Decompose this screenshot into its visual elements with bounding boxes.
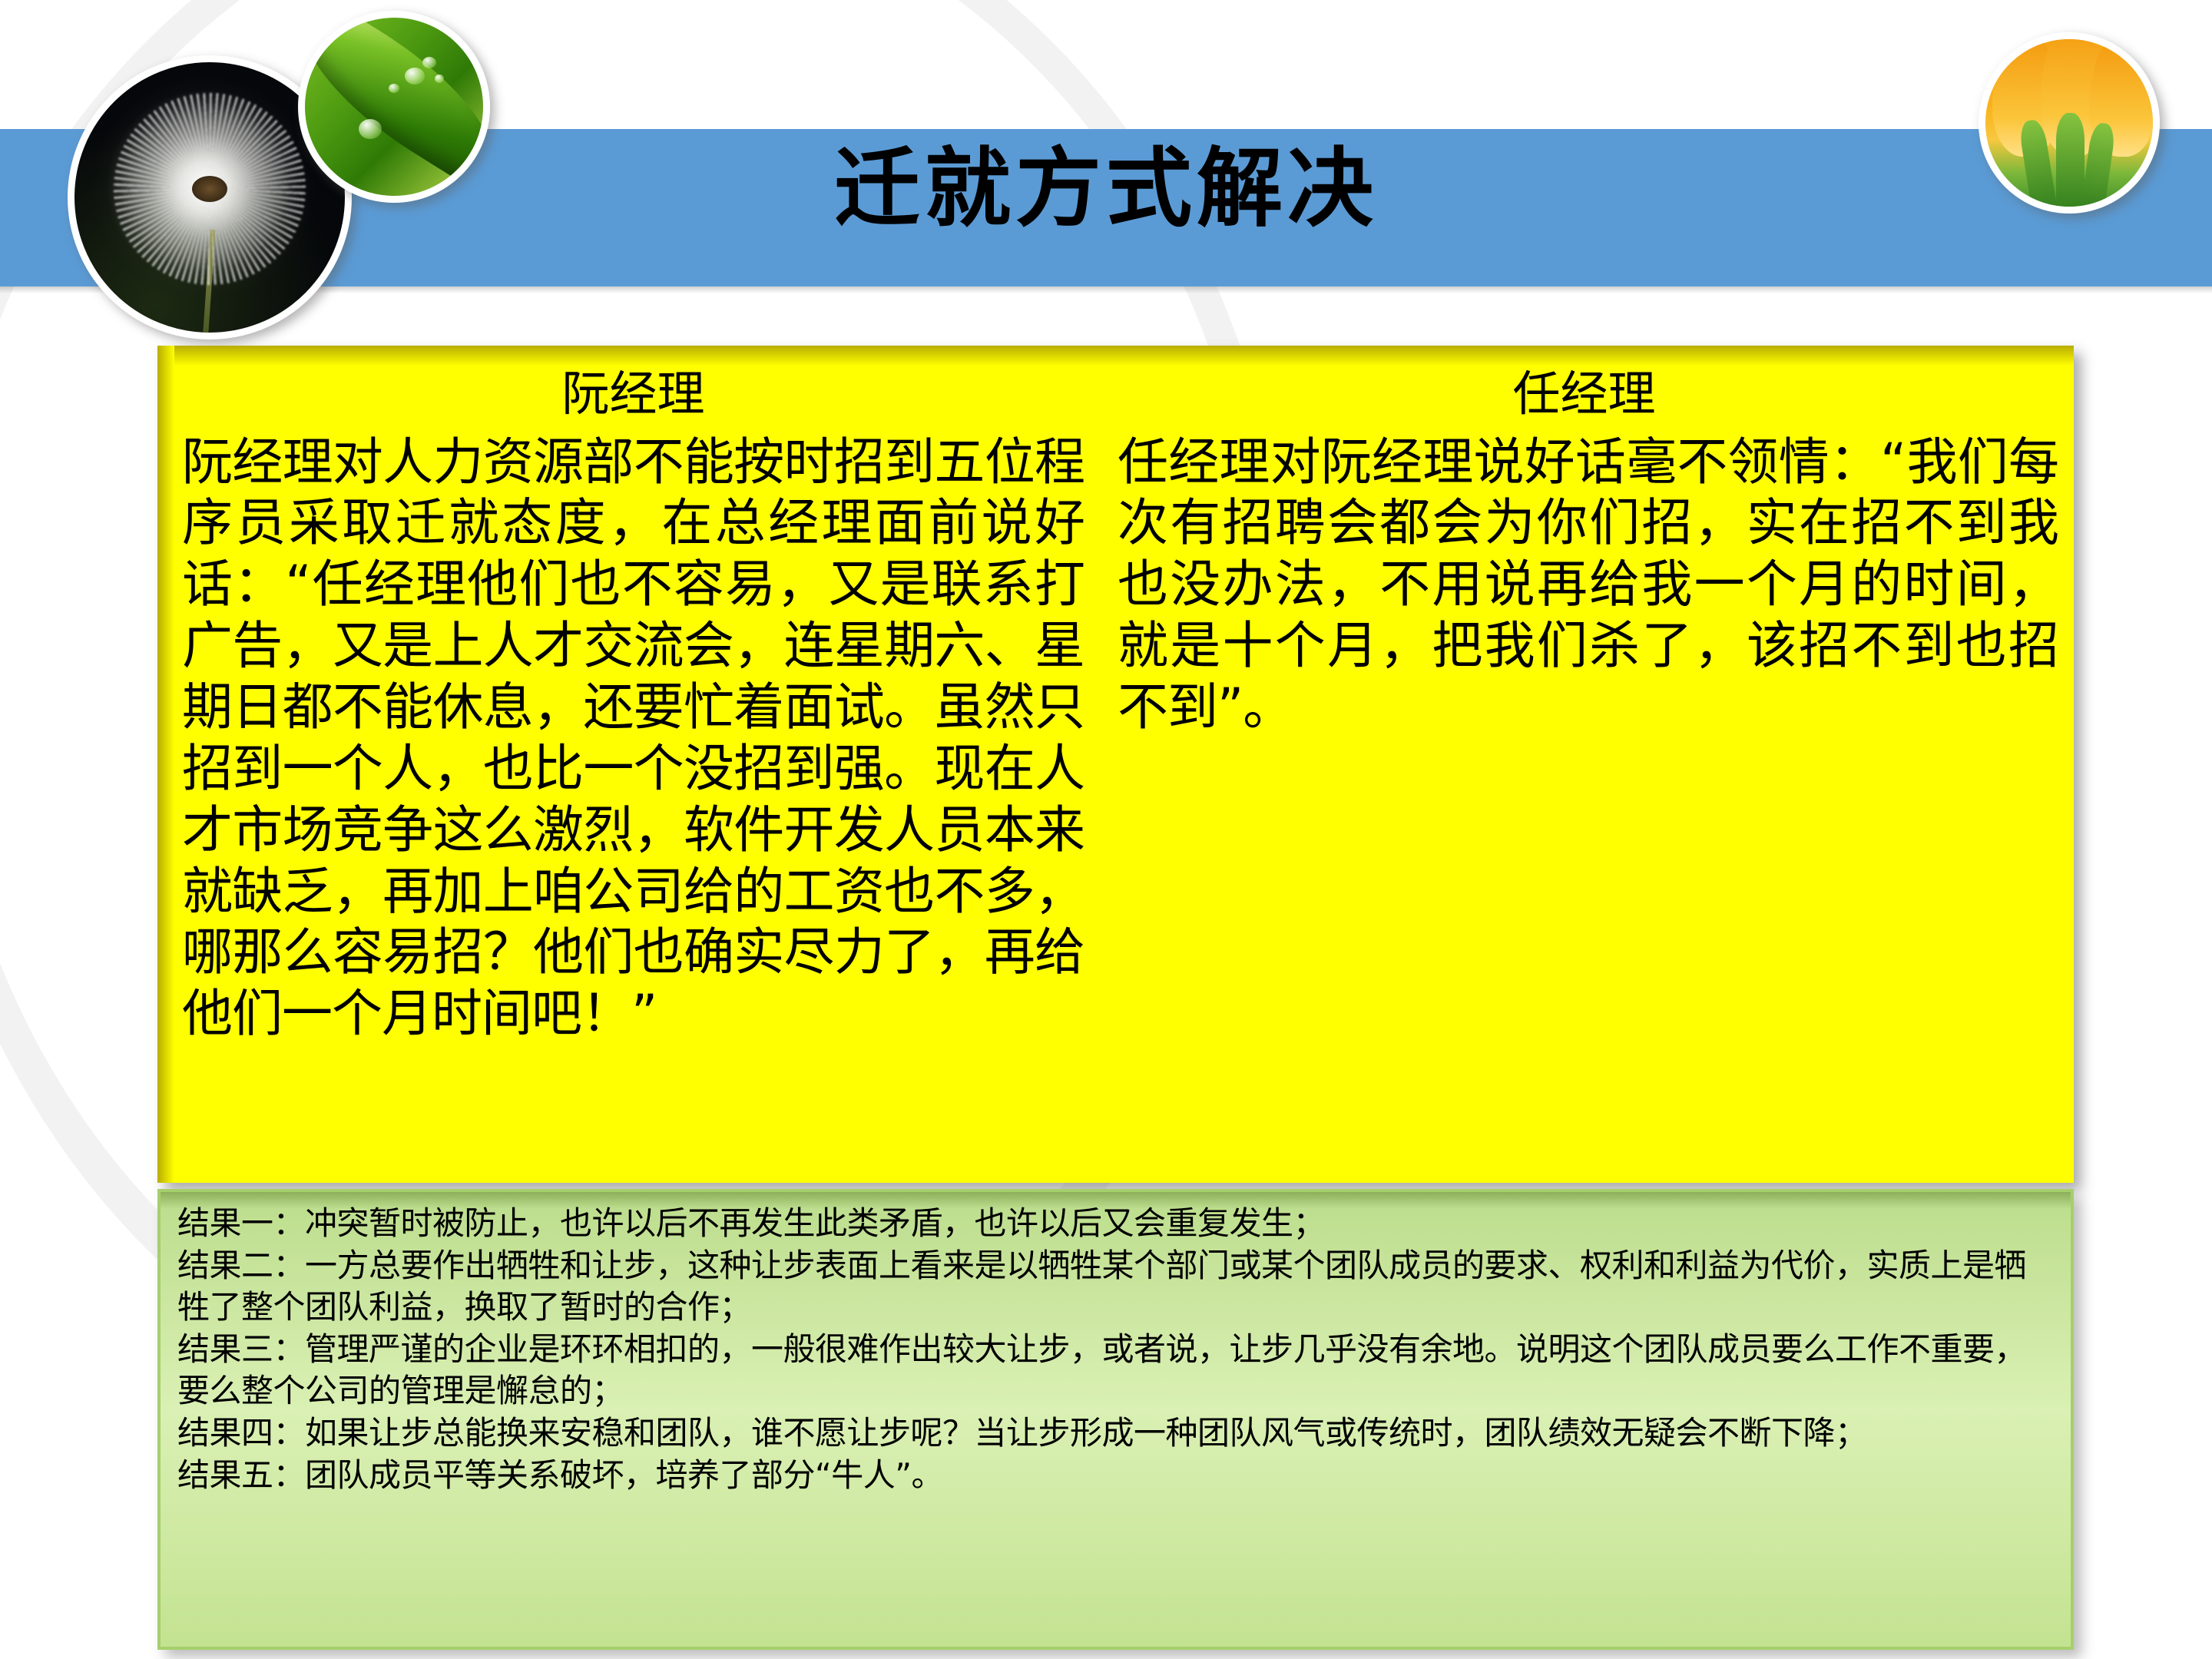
dialogue-heading-right: 任经理 <box>1102 346 2066 424</box>
page-title: 迁就方式解决 <box>0 135 2212 243</box>
water-drop-icon <box>389 84 399 93</box>
results-panel: 结果一：冲突暂时被防止，也许以后不再发生此类矛盾，也许以后又会重复发生； 结果二… <box>157 1189 2074 1650</box>
dialogue-column-left: 阮经理 阮经理对人力资源部不能按时招到五位程序员采取迁就态度，在总经理面前说好话… <box>174 346 1092 1183</box>
dialogue-panel: 阮经理 阮经理对人力资源部不能按时招到五位程序员采取迁就态度，在总经理面前说好话… <box>157 346 2074 1183</box>
result-item: 结果二：一方总要作出牺牲和让步，这种让步表面上看来是以牺牲某个部门或某个团队成员… <box>177 1245 2051 1329</box>
dialogue-column-right: 任经理 任经理对阮经理说好话毫不领情：“我们每次有招聘会都会为你们招，实在招不到… <box>1102 346 2066 1183</box>
result-item: 结果一：冲突暂时被防止，也许以后不再发生此类矛盾，也许以后又会重复发生； <box>177 1203 2051 1245</box>
water-drop-icon <box>405 68 425 84</box>
dialogue-text-right: 任经理对阮经理说好话毫不领情：“我们每次有招聘会都会为你们招，实在招不到我也没办… <box>1102 424 2066 738</box>
title-banner-shadow <box>0 286 2212 293</box>
dialogue-heading-left: 阮经理 <box>174 346 1092 424</box>
result-item: 结果四：如果让步总能换来安稳和团队，谁不愿让步呢？当让步形成一种团队风气或传统时… <box>177 1412 2051 1455</box>
result-item: 结果三：管理严谨的企业是环环相扣的，一般很难作出较大让步，或者说，让步几乎没有余… <box>177 1329 2051 1412</box>
water-drop-icon <box>422 57 436 68</box>
result-item: 结果五：团队成员平等关系破坏，培养了部分“牛人”。 <box>177 1455 2051 1497</box>
dialogue-text-left: 阮经理对人力资源部不能按时招到五位程序员采取迁就态度，在总经理面前说好话：“任经… <box>174 424 1092 1045</box>
